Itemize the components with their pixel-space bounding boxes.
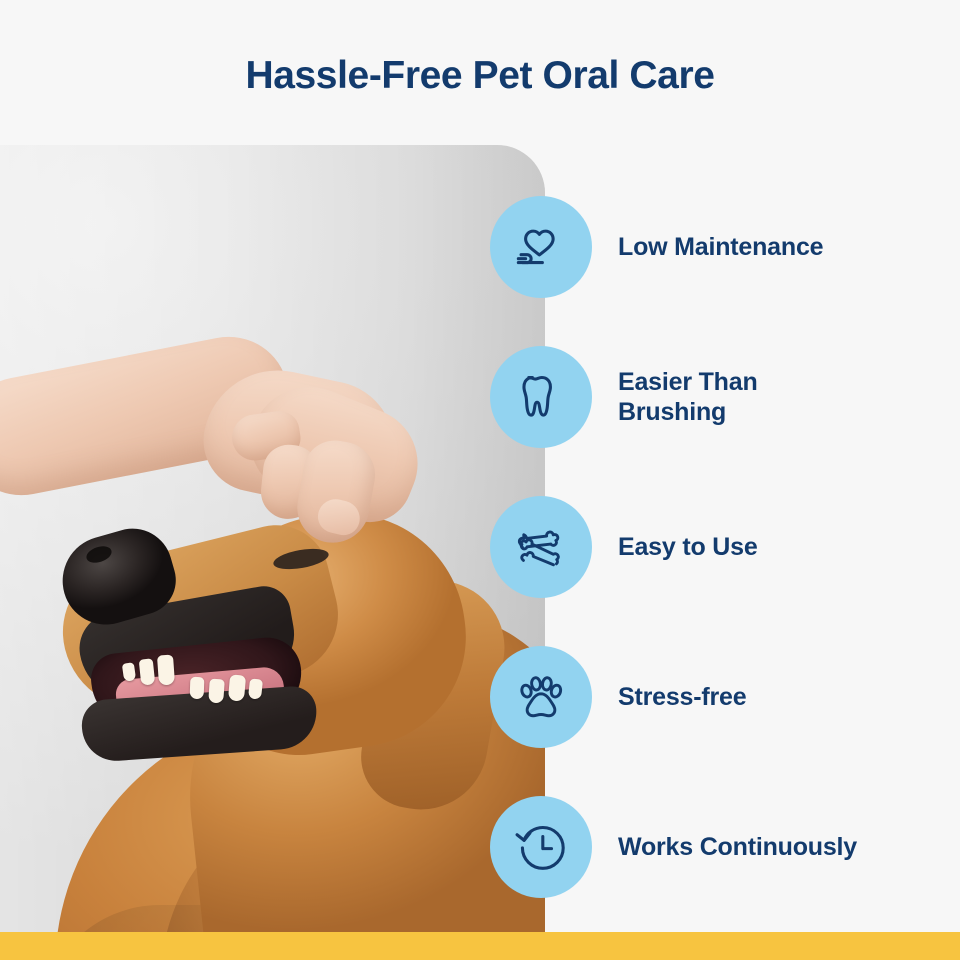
- clock-arrow-icon: [512, 818, 570, 876]
- footer-accent-bar: [0, 932, 960, 960]
- feature-label: Works Continuously: [618, 832, 857, 863]
- feature-item-easier-than-brushing: Easier Than Brushing: [490, 345, 960, 449]
- crossed-bones-icon: [512, 518, 570, 576]
- feature-badge: [490, 496, 592, 598]
- promo-graphic: Hassle-Free Pet Oral Care: [0, 0, 960, 960]
- paw-print-icon: [512, 668, 570, 726]
- feature-item-easy-to-use: Easy to Use: [490, 495, 960, 599]
- feature-badge: [490, 646, 592, 748]
- feature-item-low-maintenance: Low Maintenance: [490, 195, 960, 299]
- feature-badge: [490, 346, 592, 448]
- feature-label: Easy to Use: [618, 532, 758, 563]
- tooth-icon: [512, 368, 570, 426]
- feature-badge: [490, 796, 592, 898]
- dog-tooth: [190, 677, 205, 699]
- feature-label: Easier Than Brushing: [618, 367, 868, 428]
- dog-tooth: [139, 658, 156, 685]
- feature-label: Low Maintenance: [618, 232, 823, 263]
- heart-hand-icon: [512, 218, 570, 276]
- feature-item-works-continuously: Works Continuously: [490, 795, 960, 899]
- dog-tooth: [208, 679, 225, 704]
- page-title: Hassle-Free Pet Oral Care: [0, 55, 960, 98]
- feature-item-stress-free: Stress-free: [490, 645, 960, 749]
- feature-label: Stress-free: [618, 682, 746, 713]
- dog-tooth: [122, 662, 136, 681]
- product-photo: [0, 145, 545, 932]
- dog-tooth: [157, 654, 175, 685]
- feature-badge: [490, 196, 592, 298]
